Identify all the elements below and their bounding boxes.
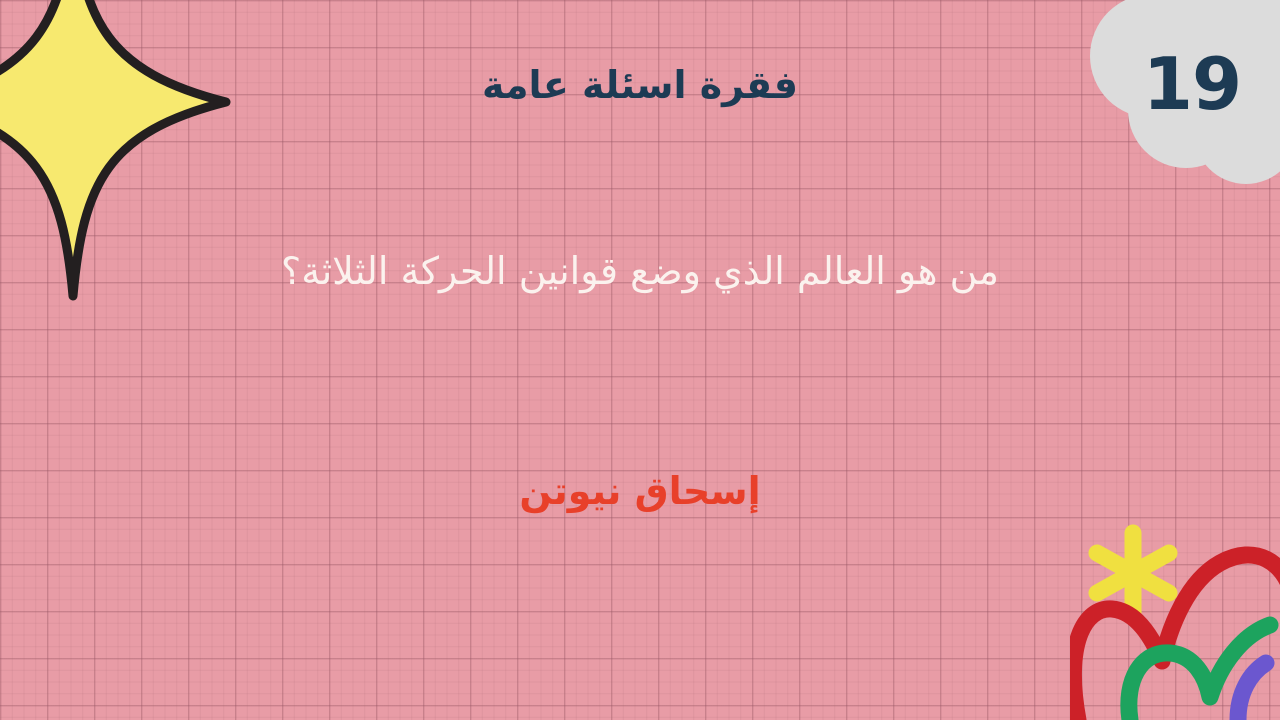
question-text: من هو العالم الذي وضع قوانين الحركة الثل… <box>120 246 1160 297</box>
page-title: فقرة اسئلة عامة <box>0 63 1280 107</box>
green-swoosh-icon <box>1129 625 1270 720</box>
sparkle-asterisk-icon <box>1097 533 1169 613</box>
heart-outline-icon <box>1073 555 1280 720</box>
background-grid-major <box>0 0 1280 720</box>
purple-stroke-icon <box>1238 663 1266 720</box>
background-grid-fine <box>0 0 1280 720</box>
quiz-slide: 19 فقرة اسئلة عامة من هو العالم الذي وضع… <box>0 0 1280 720</box>
doodle-decoration-group <box>1070 515 1280 720</box>
answer-text: إسحاق نيوتن <box>120 466 1160 517</box>
